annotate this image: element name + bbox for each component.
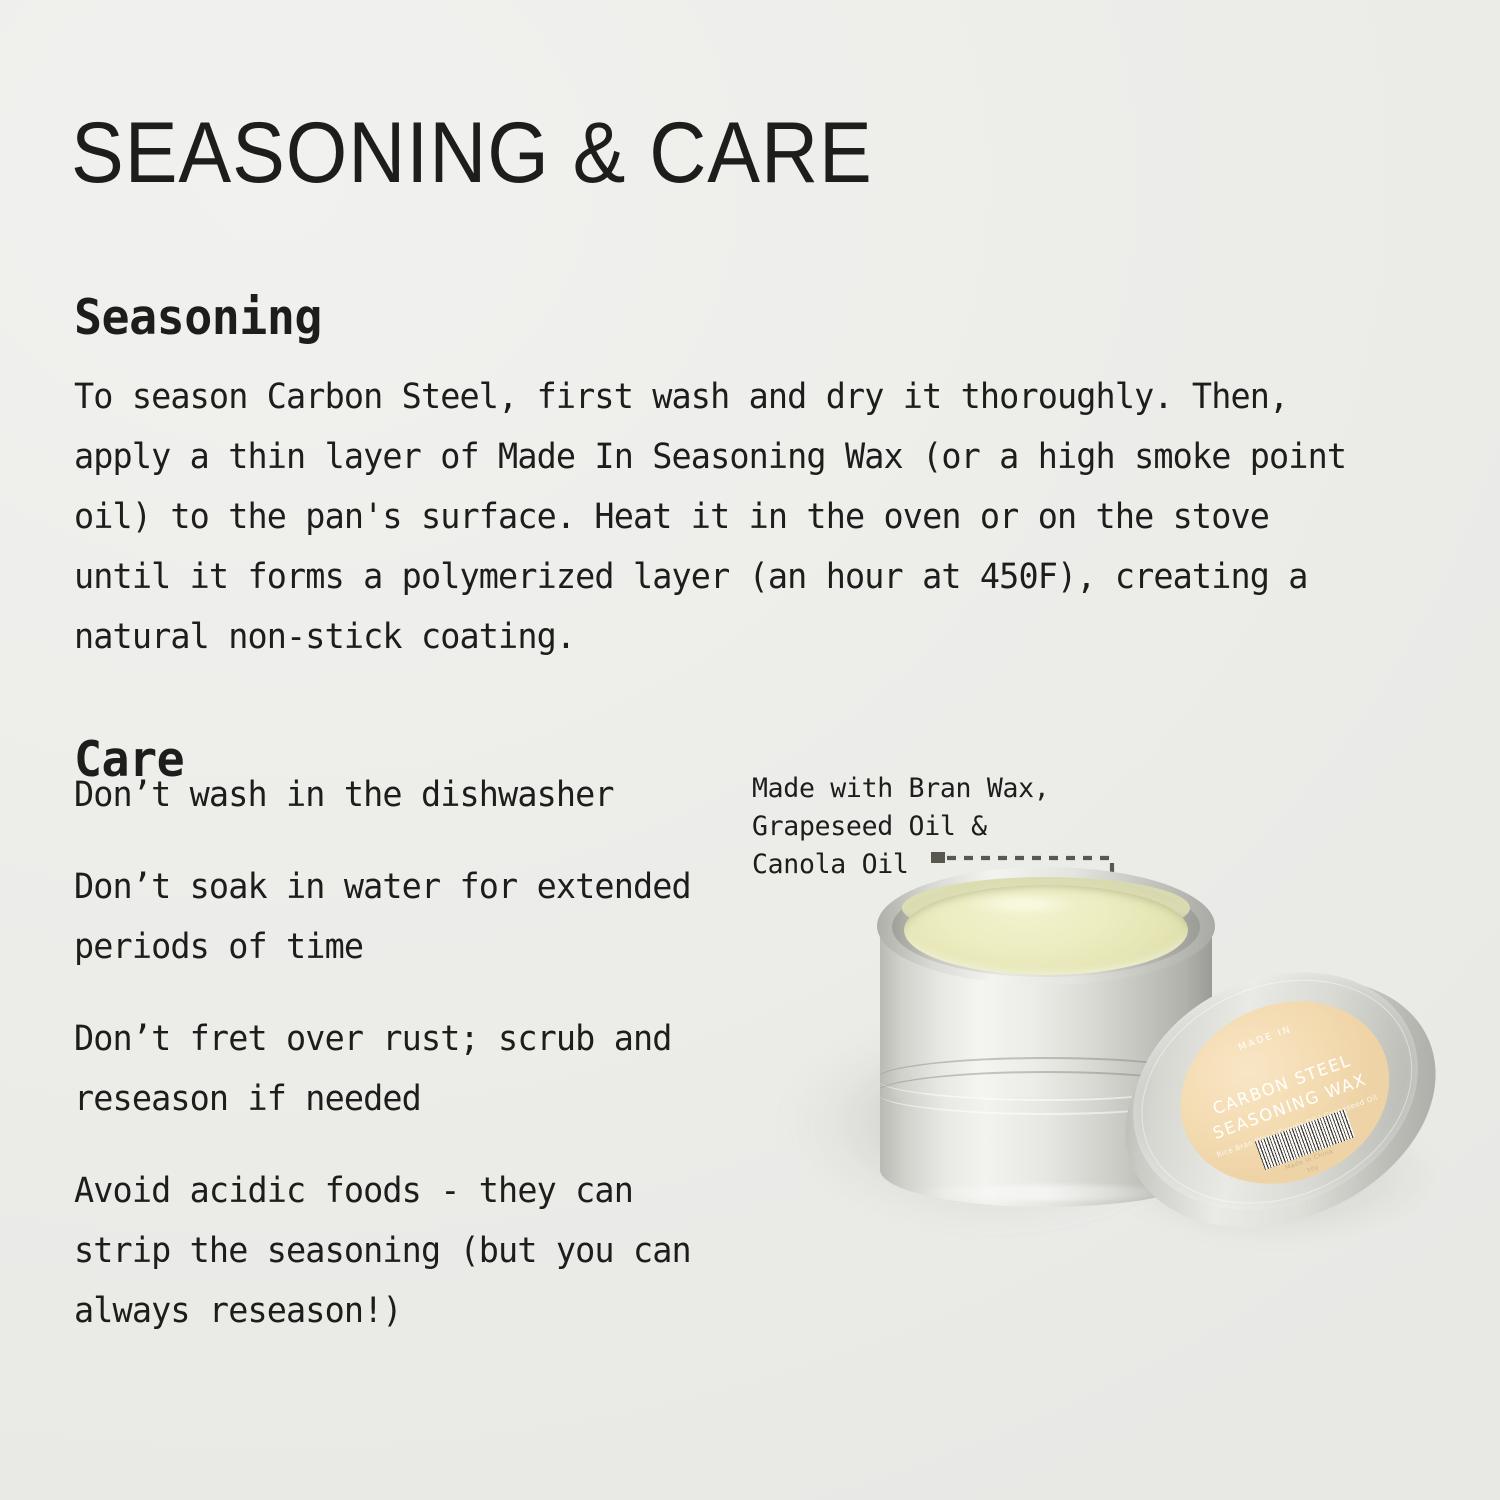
care-list-item: Don’t fret over rust; scrub and reseason… <box>74 1009 714 1129</box>
page-title: SEASONING & CARE <box>71 110 873 196</box>
wax-gloss-highlight <box>938 891 1108 921</box>
seasoning-care-page: SEASONING & CARE Seasoning To season Car… <box>0 0 1500 1500</box>
product-photo-seasoning-wax-tin: MADE IN CARBON STEEL SEASONING WAX Rice … <box>760 855 1440 1275</box>
care-list-item: Don’t soak in water for extended periods… <box>74 857 714 977</box>
seasoning-heading: Seasoning <box>74 289 322 346</box>
care-list-item: Avoid acidic foods - they can strip the … <box>74 1161 714 1341</box>
care-list-item: Don’t wash in the dishwasher <box>74 765 714 825</box>
care-list: Don’t wash in the dishwasher Don’t soak … <box>74 765 734 1341</box>
seasoning-paragraph: To season Carbon Steel, first wash and d… <box>74 367 1374 667</box>
